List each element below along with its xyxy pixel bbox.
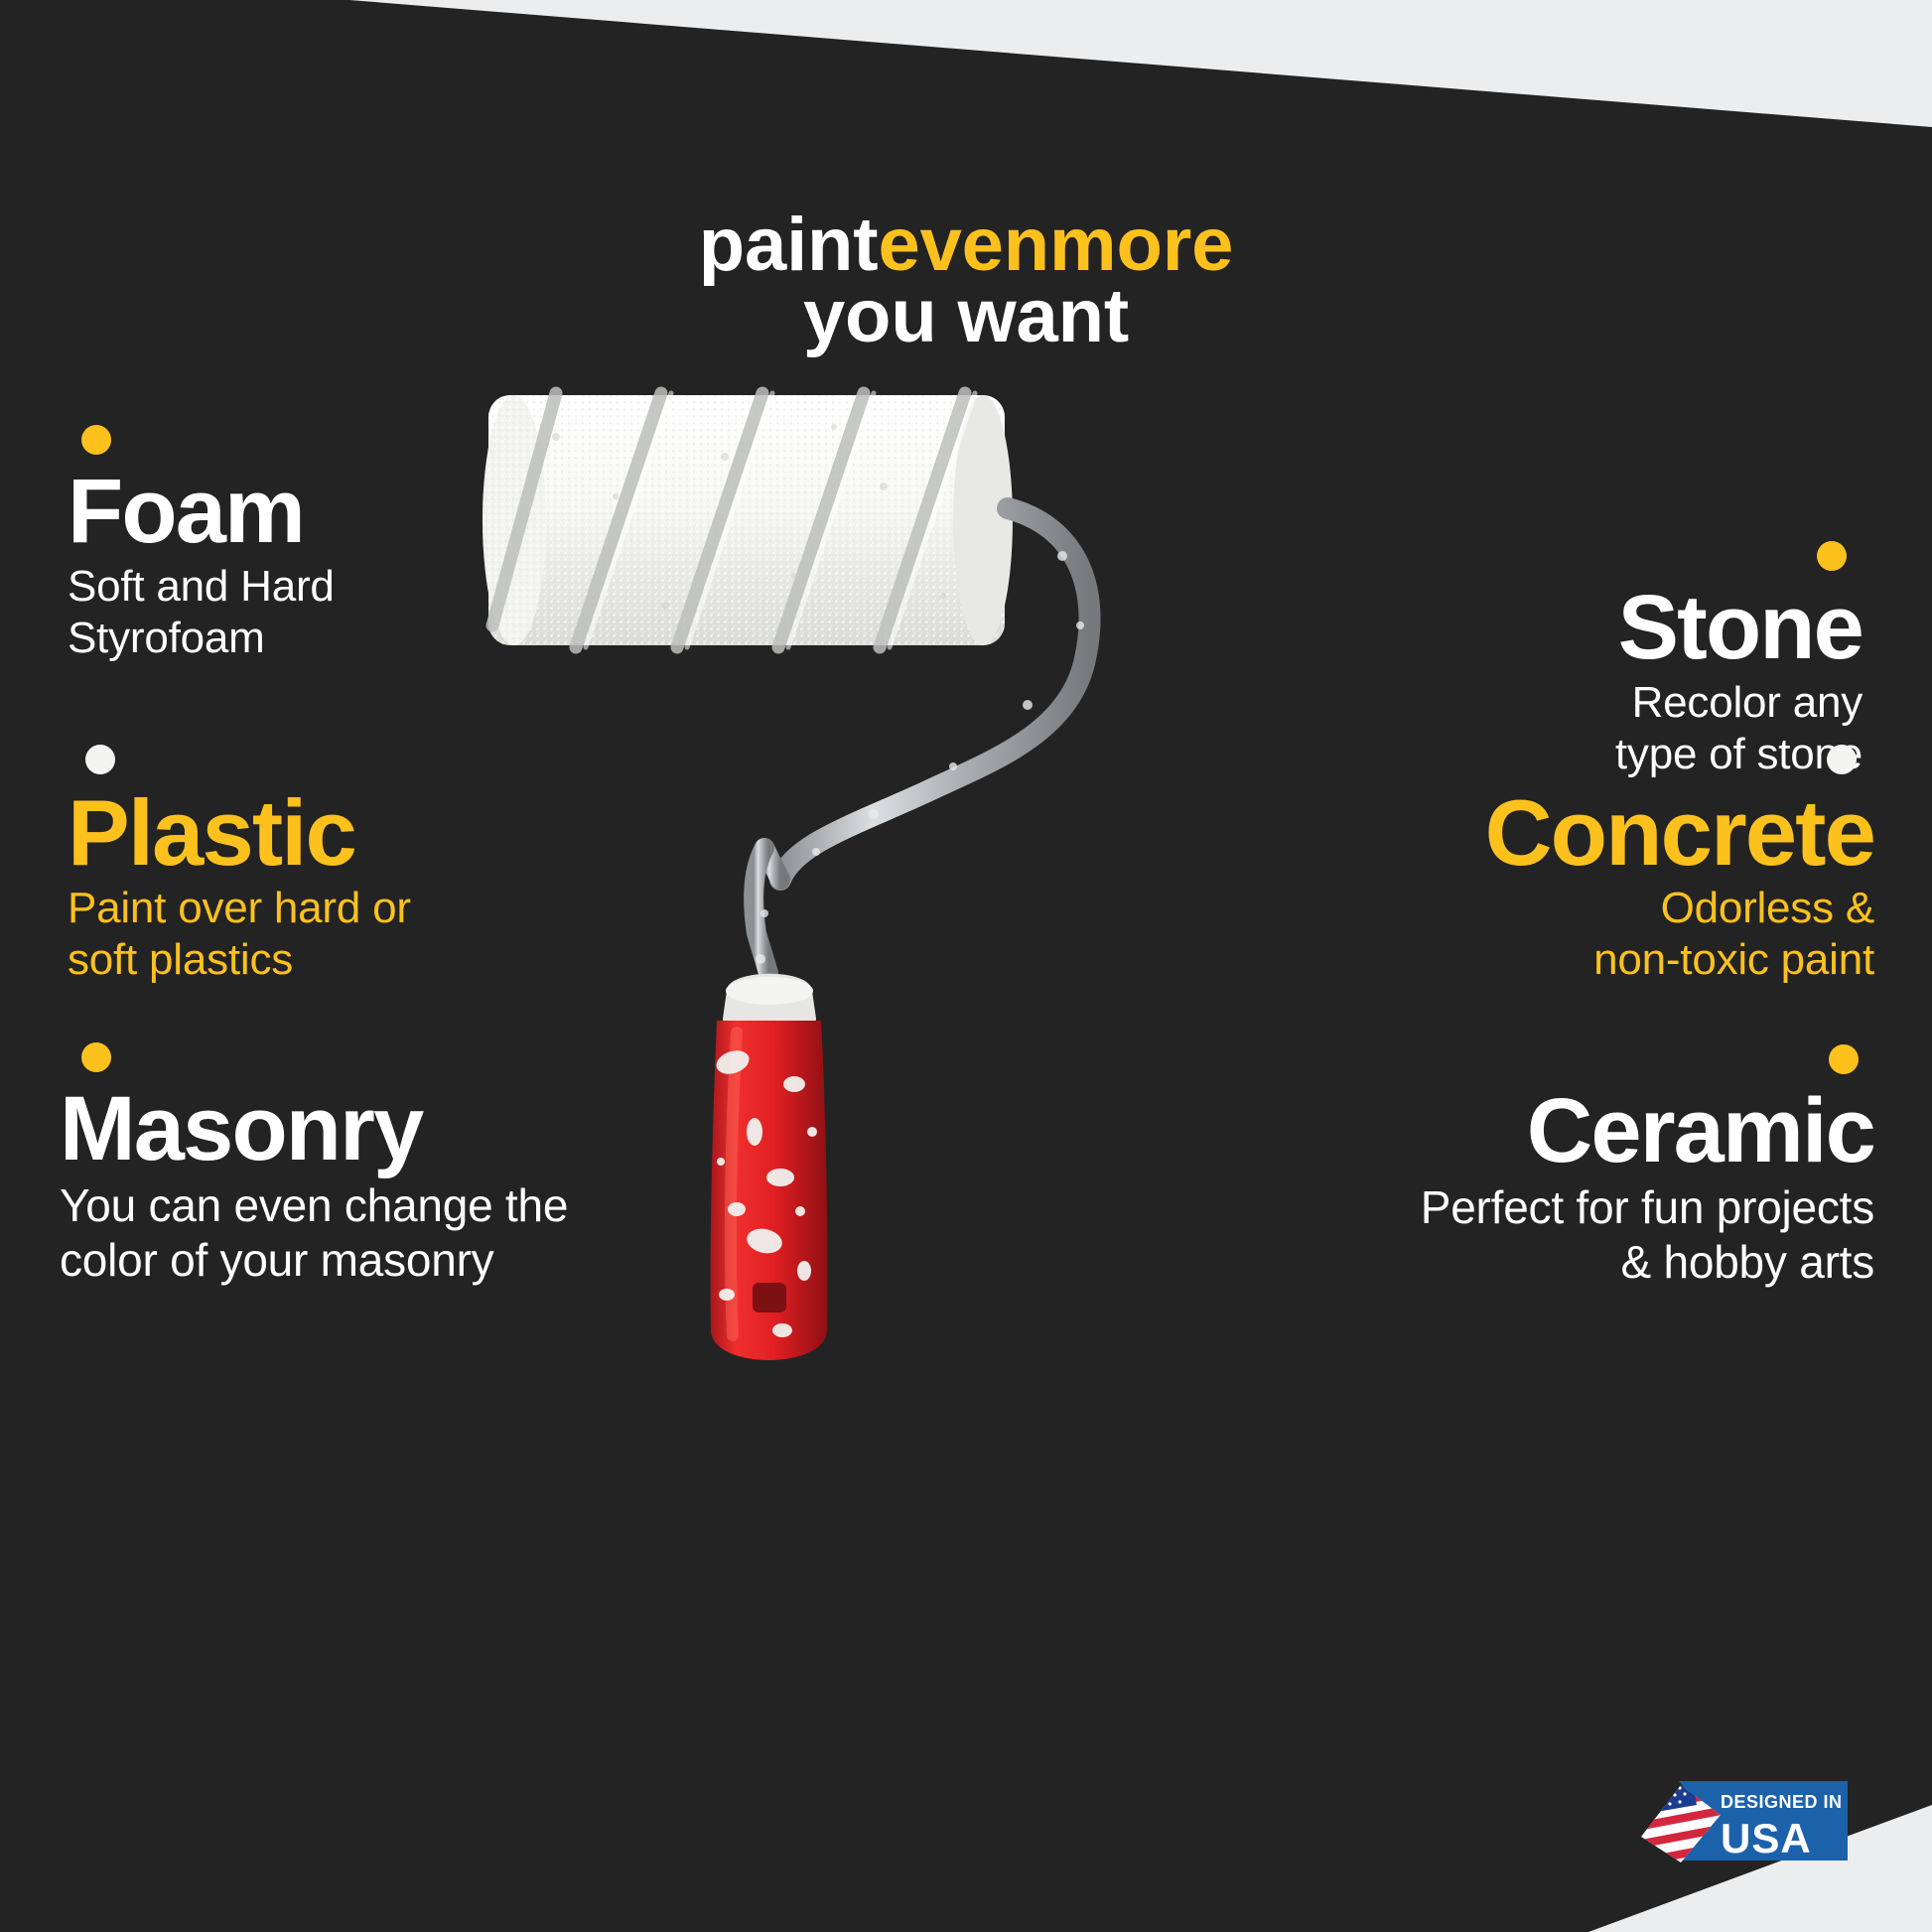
infographic-canvas: paintevenmore you want — [0, 0, 1932, 1932]
feature-concrete: Concrete Odorless & non-toxic paint — [1358, 745, 1874, 986]
designed-in-usa-badge: DESIGNED IN USA — [1635, 1775, 1852, 1866]
feature-description: Odorless & non-toxic paint — [1358, 883, 1874, 986]
feature-title: Concrete — [1358, 788, 1874, 877]
bullet-dot-icon — [1827, 745, 1857, 774]
bullet-dot-icon — [85, 745, 115, 774]
roller-drum — [483, 393, 1013, 647]
feature-ceramic: Ceramic Perfect for fun projects & hobby… — [1309, 1044, 1874, 1289]
badge-line-2: USA — [1721, 1815, 1812, 1862]
feature-description: Soft and Hard Styrofoam — [68, 561, 494, 664]
feature-plastic: Plastic Paint over hard or soft plastics — [68, 745, 534, 986]
feature-title: Masonry — [60, 1086, 675, 1173]
feature-title: Stone — [1436, 585, 1863, 671]
feature-description: You can even change the color of your ma… — [60, 1178, 675, 1287]
bullet-dot-icon — [81, 1042, 111, 1072]
feature-masonry: Masonry You can even change the color of… — [60, 1042, 675, 1287]
feature-title: Ceramic — [1309, 1088, 1874, 1174]
feature-description: Paint over hard or soft plastics — [68, 883, 534, 986]
bullet-dot-icon — [1829, 1044, 1859, 1074]
feature-title: Foam — [68, 469, 494, 555]
feature-foam: Foam Soft and Hard Styrofoam — [68, 425, 494, 664]
badge-line-1: DESIGNED IN — [1721, 1792, 1843, 1812]
roller-handle — [711, 1021, 828, 1360]
feature-description: Perfect for fun projects & hobby arts — [1309, 1180, 1874, 1289]
bullet-dot-icon — [81, 425, 111, 455]
feature-title: Plastic — [68, 788, 534, 877]
bullet-dot-icon — [1817, 541, 1847, 571]
